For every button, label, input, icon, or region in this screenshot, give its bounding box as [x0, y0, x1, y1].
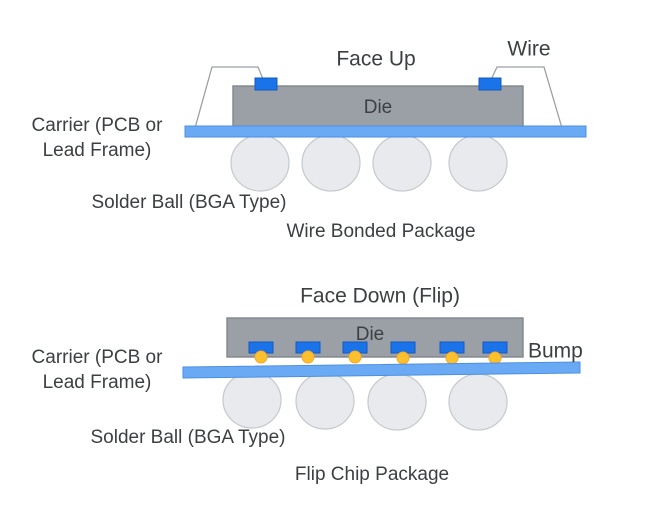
bottom-carrier-label-line1: Carrier (PCB or [32, 347, 164, 368]
top-orientation-label: Face Up [336, 48, 415, 71]
bump [255, 351, 267, 363]
wire-label: Wire [507, 38, 550, 61]
flip-chip-package-group: Face Down (Flip) Die [32, 285, 583, 485]
bump [489, 352, 501, 364]
bond-pad [440, 342, 464, 353]
bump [349, 351, 361, 363]
top-carrier-label-line1: Carrier (PCB or [32, 115, 164, 136]
top-solder-ball-label: Solder Ball (BGA Type) [91, 192, 286, 213]
solder-ball [302, 135, 360, 191]
bottom-carrier-bar [183, 362, 580, 378]
top-die-label: Die [364, 97, 393, 118]
top-carrier-label-line2: Lead Frame) [43, 140, 152, 161]
bottom-orientation-label: Face Down (Flip) [300, 285, 460, 308]
solder-ball [296, 373, 354, 429]
solder-ball [223, 372, 281, 428]
bond-pad [391, 342, 415, 353]
bond-pad [479, 78, 501, 90]
bond-pad [483, 342, 507, 353]
bottom-carrier-label-line2: Lead Frame) [43, 372, 152, 393]
solder-ball [231, 135, 289, 191]
solder-ball [368, 374, 426, 430]
bond-pad [255, 78, 277, 90]
top-package-caption: Wire Bonded Package [286, 221, 475, 242]
wire-bonded-package-group: Face Up Wire Die [32, 38, 586, 242]
packaging-diagram: Face Up Wire Die [0, 0, 671, 510]
solder-ball [449, 135, 507, 191]
solder-ball [449, 374, 507, 430]
bump [446, 352, 458, 364]
bump [302, 351, 314, 363]
diagram-canvas: Face Up Wire Die [0, 0, 671, 510]
bottom-solder-ball-row [223, 372, 507, 430]
bump-label: Bump [528, 340, 583, 363]
top-solder-ball-row [231, 135, 507, 191]
solder-ball [373, 135, 431, 191]
top-carrier-bar [185, 126, 586, 137]
bottom-package-caption: Flip Chip Package [295, 464, 449, 485]
bottom-solder-ball-label: Solder Ball (BGA Type) [90, 427, 285, 448]
bump [397, 352, 409, 364]
